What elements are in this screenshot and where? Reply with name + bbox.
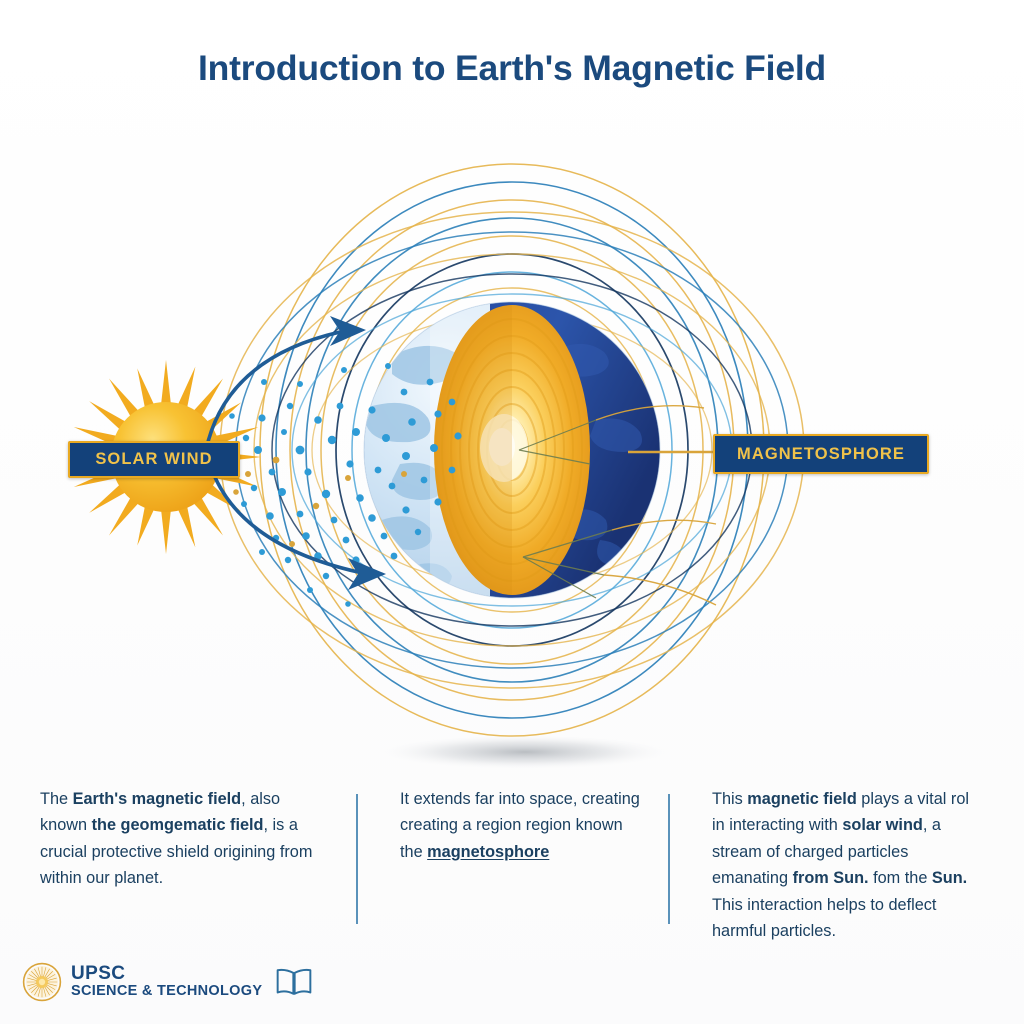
footer-subtitle: SCIENCE & TECHNOLOGY xyxy=(71,984,262,999)
summary-columns: The Earth's magnetic field, also known t… xyxy=(0,786,1024,951)
open-book-icon xyxy=(274,965,314,999)
summary-column-2: It extends far into space, creating crea… xyxy=(400,786,648,865)
upsc-chakra-emblem-icon xyxy=(22,962,62,1002)
column-divider-2 xyxy=(668,794,670,924)
solar-wind-label[interactable]: SOLAR WIND xyxy=(68,441,240,478)
column-divider-1 xyxy=(356,794,358,924)
magnetosphere-label[interactable]: MAGNETOSPHORE xyxy=(713,434,929,474)
infographic-canvas: Introduction to Earth's Magnetic Field xyxy=(0,0,1024,1024)
footer-branding: UPSC SCIENCE & TECHNOLOGY xyxy=(22,952,422,1012)
page-title: Introduction to Earth's Magnetic Field xyxy=(0,48,1024,89)
summary-column-1: The Earth's magnetic field, also known t… xyxy=(40,786,322,892)
footer-title: UPSC xyxy=(71,964,262,984)
summary-column-3: This magnetic field plays a vital rol in… xyxy=(712,786,984,944)
